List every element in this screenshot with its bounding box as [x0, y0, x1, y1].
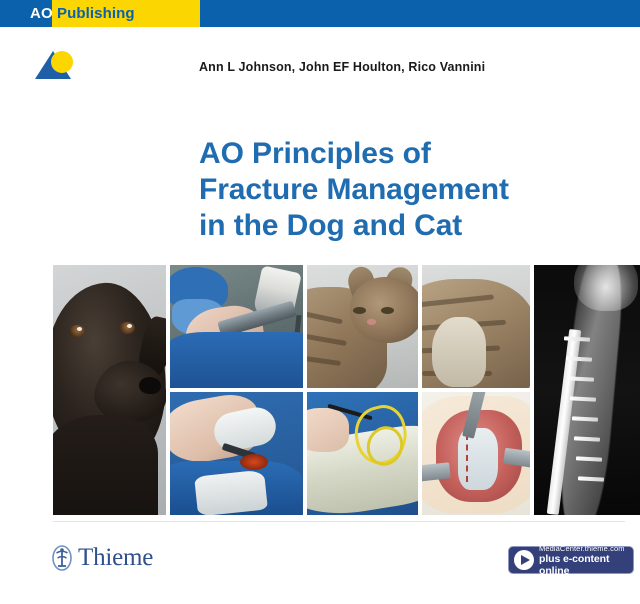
dog-nose-shape [139, 377, 161, 394]
thieme-wordmark: Thieme [78, 545, 153, 571]
authors-line: Ann L Johnson, John EF Houlton, Rico Van… [199, 60, 619, 74]
thieme-logo: Thieme [51, 545, 153, 571]
cat-stripe [307, 329, 347, 346]
title-line-1: AO Principles of [199, 136, 629, 172]
book-title: AO Principles of Fracture Management in … [199, 136, 629, 244]
collage-image-anatomical-illustration-fracture-repair [422, 392, 530, 515]
mediacenter-url: MediaCenter.thieme.com [539, 544, 633, 553]
dog-chest-shape [53, 415, 158, 515]
collage-image-radiograph-bone-plate [534, 265, 640, 515]
book-cover: AO Publishing Ann L Johnson, John EF Hou… [0, 0, 640, 604]
mediacenter-tagline: plus e-content online [539, 553, 633, 577]
cover-photo-collage [53, 265, 625, 515]
dog-left-eye-shape [69, 325, 85, 337]
thieme-emblem-icon [51, 545, 73, 571]
title-line-3: in the Dog and Cat [199, 208, 629, 244]
ao-foundation-logo-icon [31, 47, 79, 81]
cat-stripe [307, 353, 341, 366]
collage-image-surgery-yellow-suture [307, 392, 418, 515]
illustration-suture-line [466, 434, 470, 482]
cat-left-eye-shape [353, 307, 366, 314]
illustration-bone-shape [458, 428, 498, 490]
play-icon [514, 550, 534, 570]
footer-divider [53, 521, 625, 522]
mediacenter-badge[interactable]: MediaCenter.thieme.com plus e-content on… [508, 546, 634, 574]
publisher-publishing-label: Publishing [57, 5, 135, 23]
cat-stripe [307, 307, 343, 325]
cat-chest-shape [432, 317, 486, 387]
publisher-bar: AO Publishing [0, 0, 640, 27]
surgical-drape-shape [170, 332, 303, 388]
collage-image-tabby-cat-right [422, 265, 530, 388]
surgical-gauze-shape [194, 469, 268, 515]
collage-image-black-labrador-portrait [53, 265, 166, 515]
collage-image-tabby-cat-left [307, 265, 418, 388]
dog-right-eye-shape [119, 322, 135, 334]
cat-right-eye-shape [381, 307, 394, 314]
publisher-ao-label: AO [30, 5, 53, 23]
gloved-hand-shape [307, 408, 349, 452]
cat-nose-shape [367, 319, 376, 325]
cat-stripe [422, 294, 494, 308]
mediacenter-text: MediaCenter.thieme.com plus e-content on… [539, 544, 633, 577]
xray-joint-shape [574, 265, 638, 311]
surgical-incision-shape [240, 454, 268, 470]
collage-image-surgeon-holding-bone-plate [170, 265, 303, 388]
title-line-2: Fracture Management [199, 172, 629, 208]
collage-image-surgical-limb-preparation [170, 392, 303, 515]
